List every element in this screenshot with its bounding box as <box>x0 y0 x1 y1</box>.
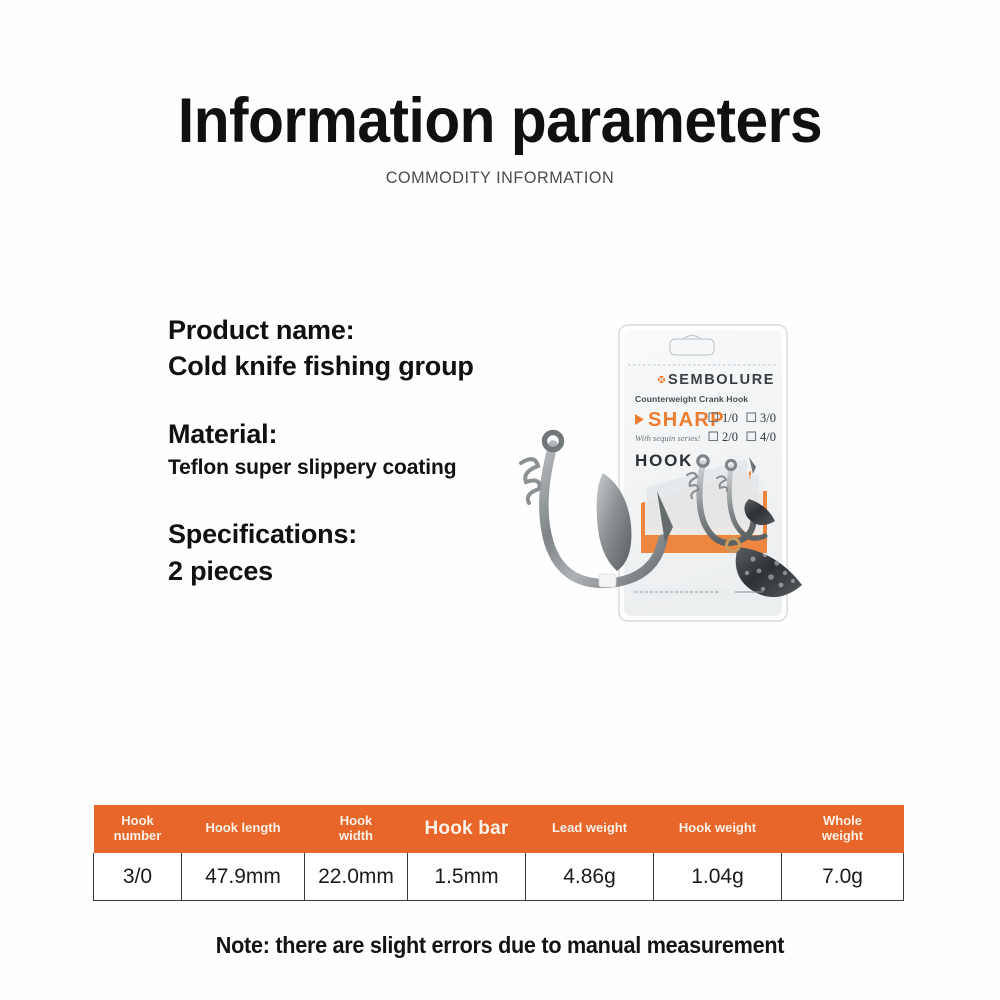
table-header-hook-bar: Hook bar <box>408 805 526 853</box>
measurement-note: Note: there are slight errors due to man… <box>30 932 970 959</box>
svg-text:With sequin series!: With sequin series! <box>635 433 701 443</box>
header-line: Whole <box>823 813 862 828</box>
cell-whole-weight: 7.0g <box>782 853 904 901</box>
table-header-hook-number: Hook number <box>94 805 182 853</box>
page-title: Information parameters <box>35 88 965 154</box>
cell-hook-length: 47.9mm <box>182 853 305 901</box>
product-info-page: Information parameters COMMODITY INFORMA… <box>0 0 1000 1000</box>
cell-hook-width: 22.0mm <box>305 853 408 901</box>
header-line: weight <box>822 828 863 843</box>
header-line: Hook <box>121 813 154 828</box>
header-line: Hook <box>340 813 373 828</box>
svg-text:4/0: 4/0 <box>760 430 776 444</box>
table-header-hook-length: Hook length <box>182 805 305 853</box>
svg-text:2/0: 2/0 <box>722 430 738 444</box>
table-header-lead-weight: Lead weight <box>526 805 654 853</box>
table-header-whole-weight: Whole weight <box>782 805 904 853</box>
svg-text:HOOK: HOOK <box>635 451 693 470</box>
cell-hook-weight: 1.04g <box>654 853 782 901</box>
cell-hook-bar: 1.5mm <box>408 853 526 901</box>
product-image: SEMBOLURE Counterweight Crank Hook SHARP… <box>495 315 865 645</box>
svg-text:Counterweight Crank Hook: Counterweight Crank Hook <box>635 394 748 404</box>
table-header-row: Hook number Hook length Hook width Hook … <box>94 805 904 853</box>
svg-text:3/0: 3/0 <box>760 411 776 425</box>
table-header-hook-weight: Hook weight <box>654 805 782 853</box>
svg-text:SEMBOLURE: SEMBOLURE <box>668 372 775 388</box>
svg-text:SHARP: SHARP <box>648 409 725 431</box>
page-subtitle: COMMODITY INFORMATION <box>25 168 975 188</box>
cell-hook-number: 3/0 <box>94 853 182 901</box>
page-header: Information parameters COMMODITY INFORMA… <box>0 88 1000 188</box>
svg-text:1/0: 1/0 <box>722 411 738 425</box>
cell-lead-weight: 4.86g <box>526 853 654 901</box>
header-line: width <box>339 828 373 843</box>
brand-logo-icon <box>658 376 665 383</box>
table-row: 3/0 47.9mm 22.0mm 1.5mm 4.86g 1.04g 7.0g <box>94 853 904 901</box>
table-header-hook-width: Hook width <box>305 805 408 853</box>
specification-table: Hook number Hook length Hook width Hook … <box>93 805 904 901</box>
header-line: number <box>114 828 162 843</box>
